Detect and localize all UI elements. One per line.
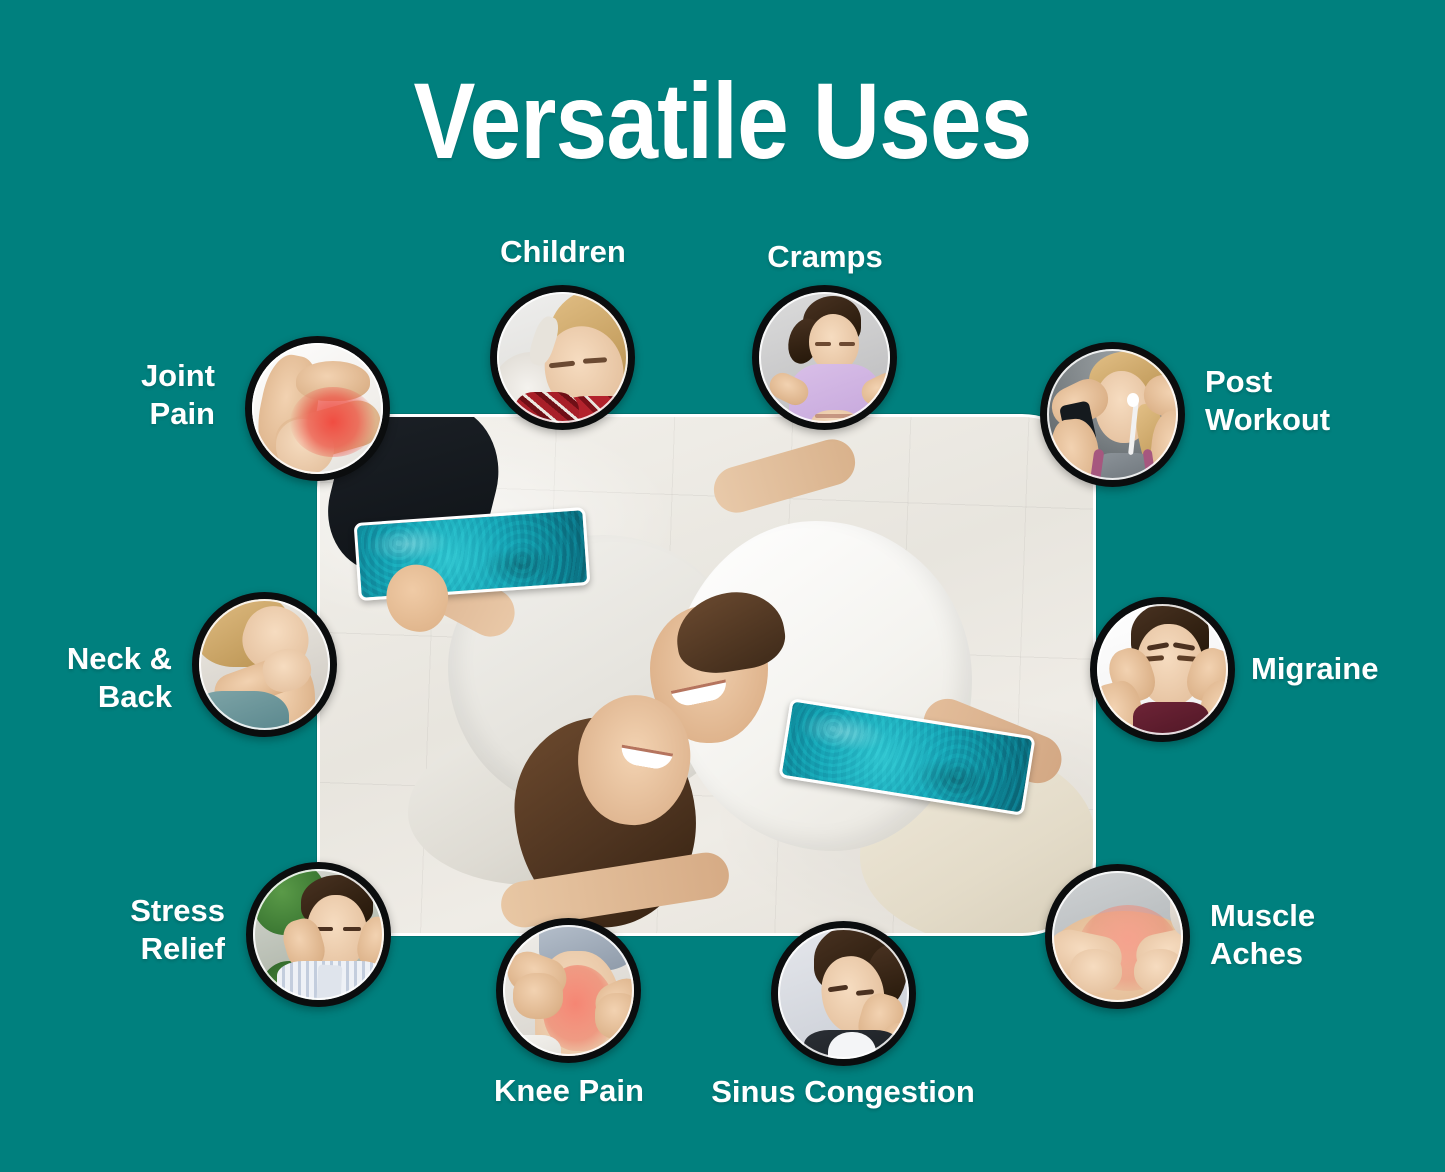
sinus-pressure-photo bbox=[778, 928, 909, 1059]
use-label-stress-relief: Stress Relief bbox=[70, 892, 225, 968]
use-bubble-post-workout[interactable] bbox=[1040, 342, 1185, 487]
knee-pain-photo bbox=[503, 925, 634, 1056]
stomach-cramps-photo bbox=[759, 292, 890, 423]
shoulder-massage-photo bbox=[1052, 871, 1183, 1002]
center-product-photo bbox=[317, 414, 1096, 936]
use-bubble-sinus-congestion[interactable] bbox=[771, 921, 916, 1066]
athlete-stretch-photo bbox=[1047, 349, 1178, 480]
elbow-pain-photo bbox=[252, 343, 383, 474]
use-label-knee-pain: Knee Pain bbox=[449, 1072, 689, 1110]
use-bubble-knee-pain[interactable] bbox=[496, 918, 641, 1063]
use-bubble-children[interactable] bbox=[490, 285, 635, 430]
use-bubble-cramps[interactable] bbox=[752, 285, 897, 430]
stressed-man-photo bbox=[253, 869, 384, 1000]
page-title: Versatile Uses bbox=[101, 66, 1344, 176]
use-bubble-migraine[interactable] bbox=[1090, 597, 1235, 742]
headache-temples-photo bbox=[1097, 604, 1228, 735]
use-label-children: Children bbox=[443, 233, 683, 271]
use-label-migraine: Migraine bbox=[1251, 650, 1441, 688]
use-label-cramps: Cramps bbox=[705, 238, 945, 276]
child-sleeping-photo bbox=[497, 292, 628, 423]
use-bubble-neck-back[interactable] bbox=[192, 592, 337, 737]
use-label-joint-pain: Joint Pain bbox=[50, 357, 215, 433]
use-label-muscle-aches: Muscle Aches bbox=[1210, 897, 1420, 973]
use-bubble-stress-relief[interactable] bbox=[246, 862, 391, 1007]
use-bubble-muscle-aches[interactable] bbox=[1045, 864, 1190, 1009]
use-label-post-workout: Post Workout bbox=[1205, 363, 1420, 439]
use-label-sinus-congestion: Sinus Congestion bbox=[693, 1073, 993, 1111]
infographic-canvas: Versatile Uses bbox=[0, 0, 1445, 1172]
neck-pain-photo bbox=[199, 599, 330, 730]
use-bubble-joint-pain[interactable] bbox=[245, 336, 390, 481]
use-label-neck-back: Neck & Back bbox=[20, 640, 172, 716]
